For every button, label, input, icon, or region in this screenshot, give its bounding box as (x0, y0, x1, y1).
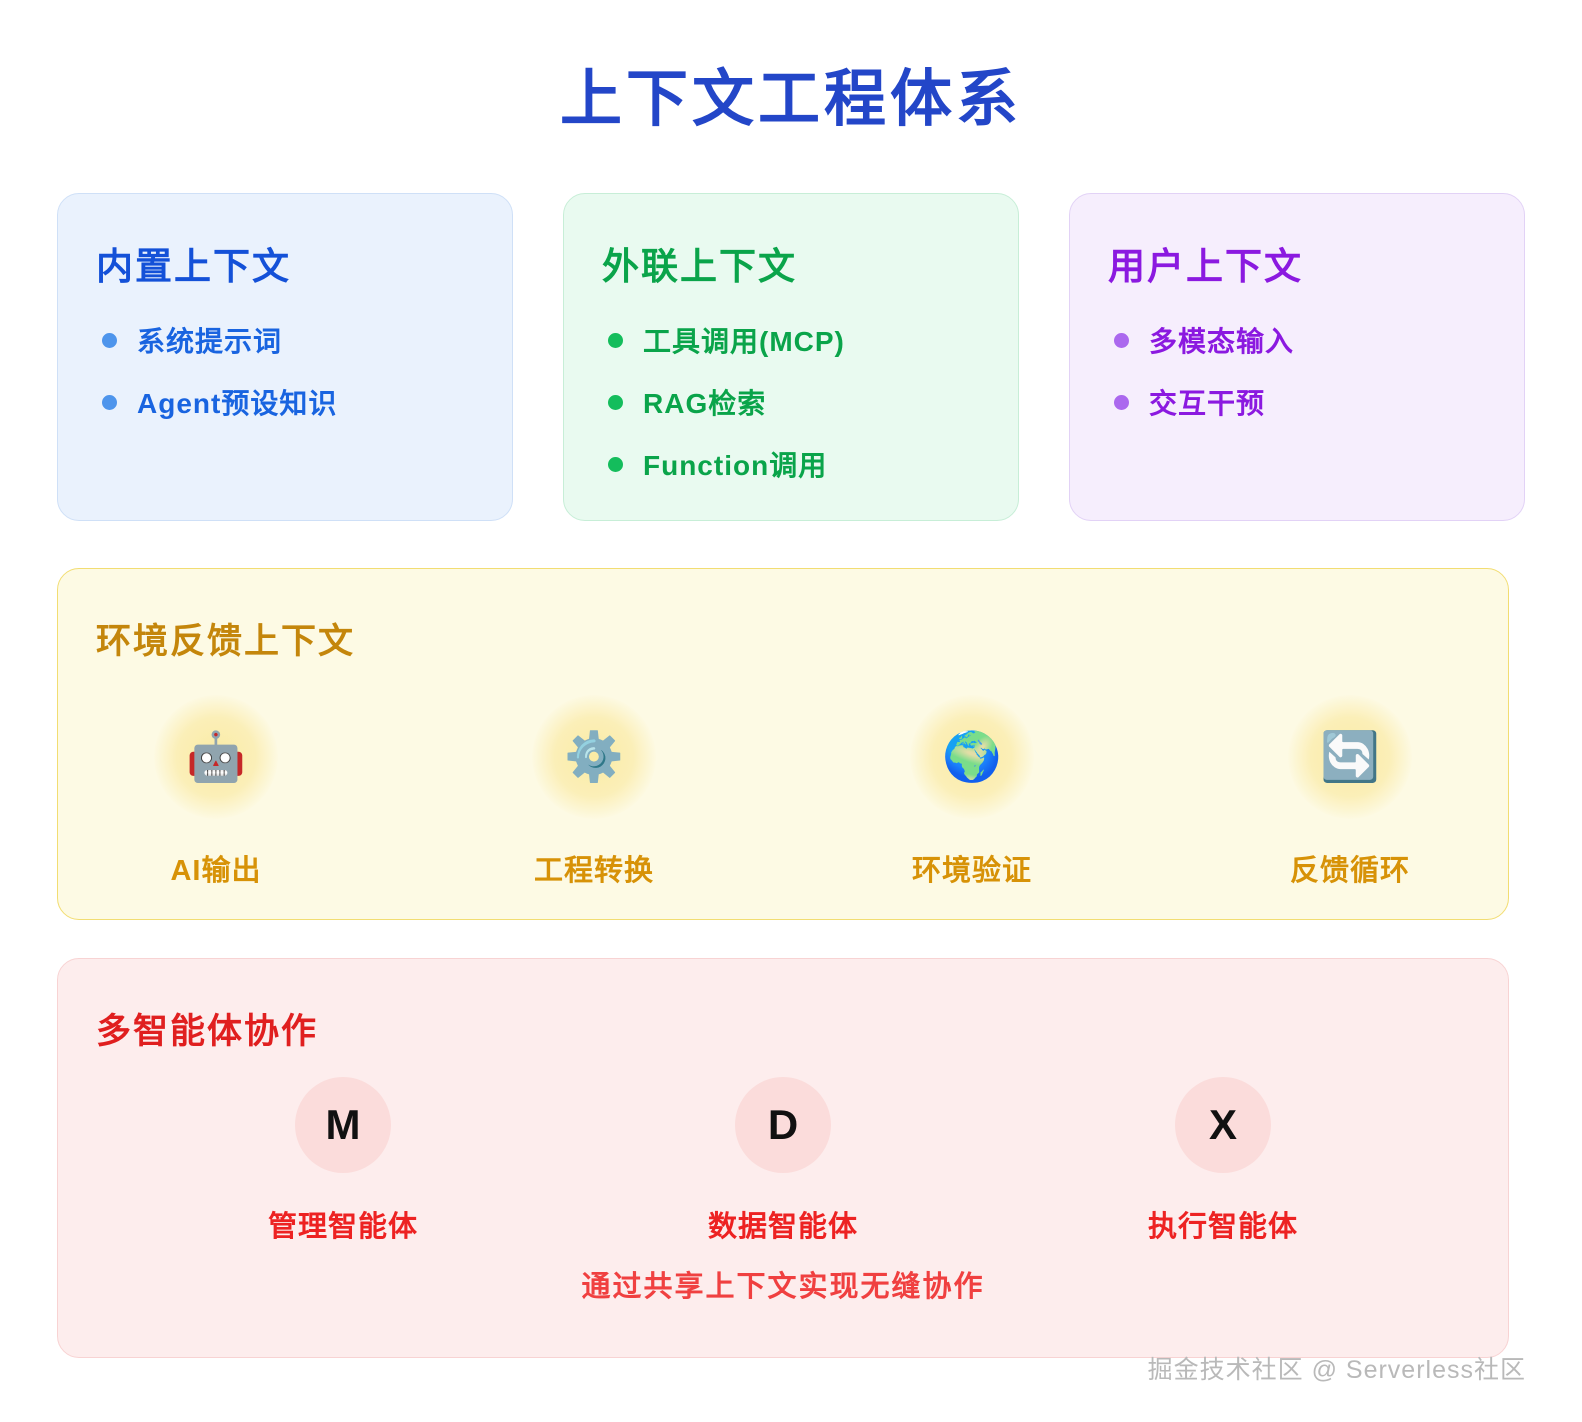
list-item-label: 多模态输入 (1149, 320, 1294, 360)
context-cards-row: 内置上下文 系统提示词 Agent预设知识 外联上下文 工具调用(MCP) (57, 193, 1525, 521)
infographic-page: 上下文工程体系 内置上下文 系统提示词 Agent预设知识 外联上下文 (0, 0, 1582, 1422)
flow-icon-wrapper: 🌍 (910, 695, 1034, 819)
flow-step-environment-validation: 🌍 环境验证 (852, 695, 1092, 889)
list-item: 多模态输入 (1114, 320, 1486, 360)
agent-avatar: D (735, 1077, 831, 1173)
watermark: 掘金技术社区 @ Serverless社区 (1148, 1350, 1526, 1386)
list-item-label: 系统提示词 (137, 320, 282, 360)
flow-step-label: 环境验证 (852, 847, 1092, 889)
agent-data: D 数据智能体 (658, 1077, 908, 1245)
card-external-context: 外联上下文 工具调用(MCP) RAG检索 Function调用 (563, 193, 1019, 521)
flow-step-label: AI输出 (96, 847, 336, 889)
bullet-dot-icon (102, 333, 117, 348)
list-item: 系统提示词 (102, 320, 474, 360)
card-title: 内置上下文 (96, 236, 474, 290)
section-title: 多智能体协作 (96, 1003, 1470, 1054)
list-item: RAG检索 (608, 382, 980, 422)
card-user-context: 用户上下文 多模态输入 交互干预 (1069, 193, 1525, 521)
card-title: 外联上下文 (602, 236, 980, 290)
list-item-label: RAG检索 (643, 382, 766, 422)
bullet-dot-icon (608, 395, 623, 410)
bullet-list: 多模态输入 交互干预 (1108, 320, 1486, 422)
card-builtin-context: 内置上下文 系统提示词 Agent预设知识 (57, 193, 513, 521)
list-item: 交互干预 (1114, 382, 1486, 422)
flow-step-ai-output: 🤖 AI输出 (96, 695, 336, 889)
agent-avatar: X (1175, 1077, 1271, 1173)
globe-icon: 🌍 (942, 733, 1002, 781)
list-item-label: Agent预设知识 (137, 382, 337, 422)
flow-icon-wrapper: 🤖 (154, 695, 278, 819)
list-item: 工具调用(MCP) (608, 320, 980, 360)
refresh-icon: 🔄 (1320, 733, 1380, 781)
section-title: 环境反馈上下文 (96, 613, 1470, 664)
agent-label: 管理智能体 (218, 1203, 468, 1245)
section-caption: 通过共享上下文实现无缝协作 (58, 1263, 1508, 1305)
list-item-label: 交互干预 (1149, 382, 1265, 422)
bullet-dot-icon (1114, 333, 1129, 348)
environment-feedback-section: 环境反馈上下文 🤖 AI输出 ⚙️ 工程转换 🌍 环境验证 (57, 568, 1509, 920)
flow-step-label: 工程转换 (474, 847, 714, 889)
agent-manager: M 管理智能体 (218, 1077, 468, 1245)
bullet-list: 工具调用(MCP) RAG检索 Function调用 (602, 320, 980, 484)
bullet-dot-icon (1114, 395, 1129, 410)
flow-icon-wrapper: ⚙️ (532, 695, 656, 819)
bullet-dot-icon (608, 457, 623, 472)
list-item: Agent预设知识 (102, 382, 474, 422)
list-item-label: Function调用 (643, 444, 827, 484)
environment-flow-row: 🤖 AI输出 ⚙️ 工程转换 🌍 环境验证 🔄 反馈循 (96, 695, 1470, 889)
agents-row: M 管理智能体 D 数据智能体 X 执行智能体 (218, 1077, 1348, 1245)
card-title: 用户上下文 (1108, 236, 1486, 290)
agent-avatar: M (295, 1077, 391, 1173)
agent-label: 数据智能体 (658, 1203, 908, 1245)
bullet-dot-icon (102, 395, 117, 410)
flow-step-label: 反馈循环 (1230, 847, 1470, 889)
bullet-dot-icon (608, 333, 623, 348)
agent-label: 执行智能体 (1098, 1203, 1348, 1245)
gear-icon: ⚙️ (564, 733, 624, 781)
flow-step-feedback-loop: 🔄 反馈循环 (1230, 695, 1470, 889)
list-item: Function调用 (608, 444, 980, 484)
list-item-label: 工具调用(MCP) (643, 320, 845, 360)
agent-executor: X 执行智能体 (1098, 1077, 1348, 1245)
flow-step-engineering-transform: ⚙️ 工程转换 (474, 695, 714, 889)
robot-icon: 🤖 (186, 733, 246, 781)
page-title: 上下文工程体系 (0, 48, 1582, 138)
multi-agent-section: 多智能体协作 M 管理智能体 D 数据智能体 X 执行智能体 通过共享上下文实现… (57, 958, 1509, 1358)
flow-icon-wrapper: 🔄 (1288, 695, 1412, 819)
bullet-list: 系统提示词 Agent预设知识 (96, 320, 474, 422)
